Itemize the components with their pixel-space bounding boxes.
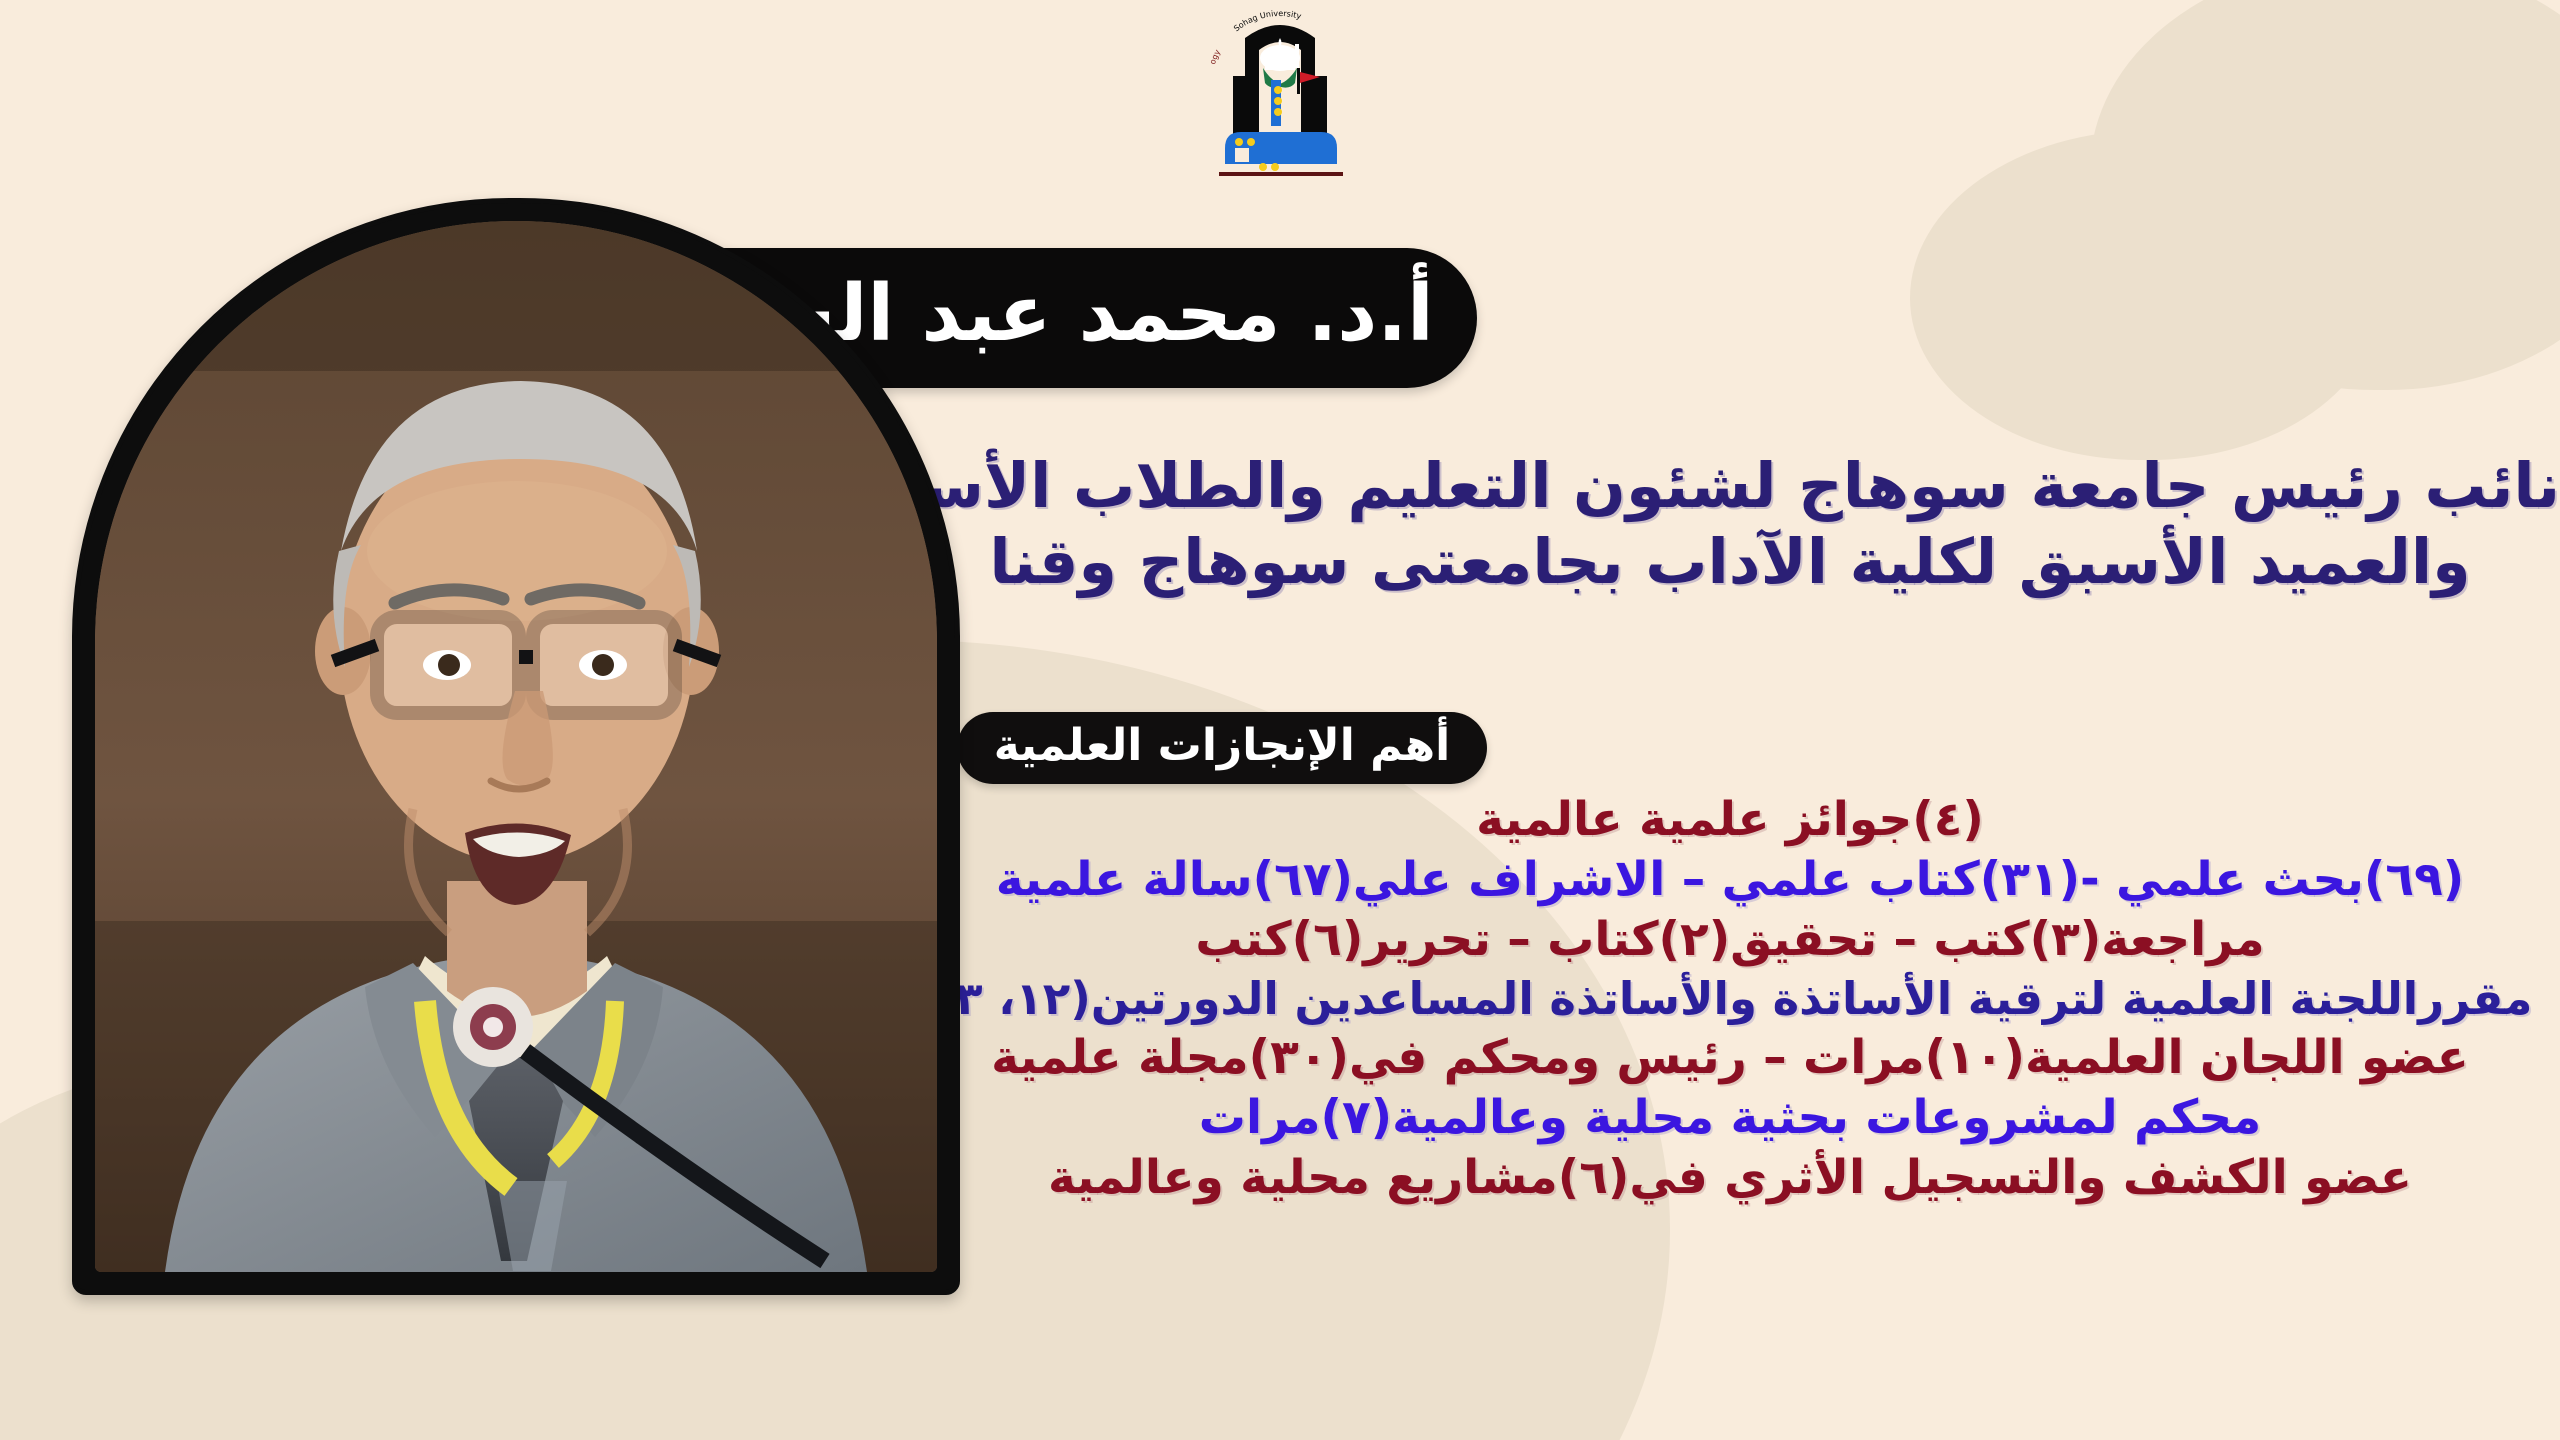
achievement-item: عضو الكشف والتسجيل الأثري في(٦)مشاريع مح… [900, 1148, 2560, 1208]
poster-root: Faculty of Archaeology Sohag University … [0, 0, 2560, 1440]
achievement-item: (٤)جوائز علمية عالمية [900, 790, 2560, 850]
person-titles: نائب رئيس جامعة سوهاج لشئون التعليم والط… [900, 448, 2560, 599]
university-logo-icon: Faculty of Archaeology Sohag University [1185, 2, 1375, 182]
svg-text:Faculty of Archaeology: Faculty of Archaeology [1185, 2, 1222, 65]
background-blob [1910, 130, 2380, 460]
portrait-frame [72, 198, 960, 1295]
title-line-2: والعميد الأسبق لكلية الآداب بجامعتى سوها… [900, 524, 2560, 600]
section-header-label: أهم الإنجازات العلمية [994, 724, 1451, 773]
achievement-item: مقرراللجنة العلمية لترقية الأساتذة والأس… [900, 970, 2560, 1028]
title-line-1: نائب رئيس جامعة سوهاج لشئون التعليم والط… [900, 448, 2560, 524]
achievement-item: (٦٩)بحث علمي -(٣١)كتاب علمي – الاشراف عل… [900, 850, 2560, 910]
achievement-item: عضو اللجان العلمية(١٠)مرات – رئيس ومحكم … [900, 1028, 2560, 1088]
portrait-photo [95, 221, 937, 1272]
achievement-item: محكم لمشروعات بحثية محلية وعالمية(٧)مرات [900, 1088, 2560, 1148]
achievements-list: (٤)جوائز علمية عالمية (٦٩)بحث علمي -(٣١)… [900, 790, 2560, 1209]
background-blob [2090, 0, 2560, 390]
achievement-item: مراجعة(٣)كتب – تحقيق(٢)كتاب – تحرير(٦)كت… [900, 910, 2560, 970]
section-header-badge: أهم الإنجازات العلمية [957, 712, 1487, 784]
